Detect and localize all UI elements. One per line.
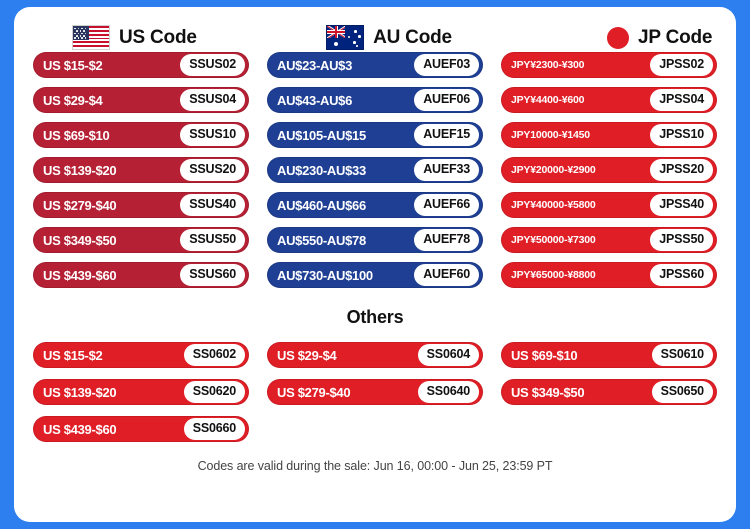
coupon-row[interactable]: US $139-$20SS0620 xyxy=(33,379,249,405)
header-au: AU Code xyxy=(269,25,540,50)
coupon-label: AU$105-AU$15 xyxy=(277,128,366,143)
coupon-row[interactable]: AU$460-AU$66AUEF66 xyxy=(267,192,483,218)
coupon-label: US $139-$20 xyxy=(43,385,116,400)
coupon-row[interactable]: US $349-$50SS0650 xyxy=(501,379,717,405)
others-cell: US $439-$60SS0660 xyxy=(24,416,258,453)
header-jp: JP Code xyxy=(539,25,736,50)
coupon-row[interactable]: US $69-$10SSUS10 xyxy=(33,122,249,148)
code-columns: US $15-$2SSUS02 US $29-$4SSUS04 US $69-$… xyxy=(14,52,736,297)
coupon-code[interactable]: JPSS20 xyxy=(650,159,713,181)
others-heading: Others xyxy=(14,307,736,328)
coupon-code[interactable]: JPSS04 xyxy=(650,89,713,111)
coupon-label: AU$43-AU$6 xyxy=(277,93,352,108)
coupon-row[interactable]: US $279-$40SSUS40 xyxy=(33,192,249,218)
coupon-row[interactable]: JPY10000-¥1450JPSS10 xyxy=(501,122,717,148)
coupon-row[interactable]: US $69-$10SS0610 xyxy=(501,342,717,368)
coupon-label: US $349-$50 xyxy=(511,385,584,400)
coupon-label: AU$230-AU$33 xyxy=(277,163,366,178)
coupon-label: US $279-$40 xyxy=(43,198,116,213)
coupon-row[interactable]: JPY¥65000-¥8800JPSS60 xyxy=(501,262,717,288)
header-title: JP Code xyxy=(638,27,712,49)
coupon-code[interactable]: SSUS10 xyxy=(180,124,245,146)
coupon-label: AU$730-AU$100 xyxy=(277,268,373,283)
coupon-row[interactable]: AU$23-AU$3AUEF03 xyxy=(267,52,483,78)
coupon-code[interactable]: SS0640 xyxy=(418,381,479,403)
coupon-label: US $69-$10 xyxy=(511,348,577,363)
coupon-code[interactable]: JPSS40 xyxy=(650,194,713,216)
coupon-label: US $439-$60 xyxy=(43,422,116,437)
coupon-code[interactable]: SS0602 xyxy=(184,344,245,366)
coupon-label: JPY¥50000-¥7300 xyxy=(511,234,596,246)
coupon-row[interactable]: US $439-$60SS0660 xyxy=(33,416,249,442)
coupon-label: US $139-$20 xyxy=(43,163,116,178)
coupon-row[interactable]: US $279-$40SS0640 xyxy=(267,379,483,405)
others-cell: US $15-$2SS0602 xyxy=(24,342,258,379)
coupon-code[interactable]: JPSS02 xyxy=(650,54,713,76)
coupon-row[interactable]: AU$43-AU$6AUEF06 xyxy=(267,87,483,113)
coupon-code[interactable]: AUEF33 xyxy=(414,159,479,181)
others-cell: US $349-$50SS0650 xyxy=(492,379,726,416)
coupon-code[interactable]: AUEF06 xyxy=(414,89,479,111)
coupon-code[interactable]: SSUS60 xyxy=(180,264,245,286)
coupon-label: US $279-$40 xyxy=(277,385,350,400)
others-cell: US $279-$40SS0640 xyxy=(258,379,492,416)
coupon-label: AU$23-AU$3 xyxy=(277,58,352,73)
coupon-code[interactable]: SSUS50 xyxy=(180,229,245,251)
coupon-label: JPY¥40000-¥5800 xyxy=(511,199,596,211)
coupon-label: JPY¥4400-¥600 xyxy=(511,94,584,106)
column-au: AU$23-AU$3AUEF03 AU$43-AU$6AUEF06 AU$105… xyxy=(258,52,492,297)
coupon-label: US $349-$50 xyxy=(43,233,116,248)
coupon-label: JPY¥2300-¥300 xyxy=(511,59,584,71)
coupon-label: AU$460-AU$66 xyxy=(277,198,366,213)
coupon-row[interactable]: JPY¥40000-¥5800JPSS40 xyxy=(501,192,717,218)
others-cell: US $29-$4SS0604 xyxy=(258,342,492,379)
au-flag-icon xyxy=(326,25,364,50)
coupon-code[interactable]: SS0650 xyxy=(652,381,713,403)
coupon-row[interactable]: US $15-$2SSUS02 xyxy=(33,52,249,78)
header-title: US Code xyxy=(119,27,197,49)
header-us: US Code xyxy=(14,25,269,50)
header-title: AU Code xyxy=(373,27,452,49)
coupon-label: US $439-$60 xyxy=(43,268,116,283)
coupon-code[interactable]: AUEF15 xyxy=(414,124,479,146)
coupon-code[interactable]: SSUS02 xyxy=(180,54,245,76)
coupon-row[interactable]: US $139-$20SSUS20 xyxy=(33,157,249,183)
coupon-row[interactable]: JPY¥50000-¥7300JPSS50 xyxy=(501,227,717,253)
others-grid: US $15-$2SS0602 US $29-$4SS0604 US $69-$… xyxy=(14,342,736,453)
promo-panel: US Code AU Code xyxy=(14,7,736,522)
others-cell: US $139-$20SS0620 xyxy=(24,379,258,416)
column-jp: JPY¥2300-¥300JPSS02 JPY¥4400-¥600JPSS04 … xyxy=(492,52,726,297)
coupon-row[interactable]: US $439-$60SSUS60 xyxy=(33,262,249,288)
coupon-code[interactable]: SSUS20 xyxy=(180,159,245,181)
column-headers: US Code AU Code xyxy=(14,7,736,52)
coupon-label: JPY10000-¥1450 xyxy=(511,129,590,141)
coupon-label: JPY¥65000-¥8800 xyxy=(511,269,596,281)
coupon-code[interactable]: SS0660 xyxy=(184,418,245,440)
coupon-row[interactable]: US $15-$2SS0602 xyxy=(33,342,249,368)
coupon-row[interactable]: AU$105-AU$15AUEF15 xyxy=(267,122,483,148)
coupon-row[interactable]: US $349-$50SSUS50 xyxy=(33,227,249,253)
coupon-row[interactable]: AU$230-AU$33AUEF33 xyxy=(267,157,483,183)
coupon-label: US $29-$4 xyxy=(43,93,102,108)
column-us: US $15-$2SSUS02 US $29-$4SSUS04 US $69-$… xyxy=(24,52,258,297)
coupon-label: US $29-$4 xyxy=(277,348,336,363)
coupon-row[interactable]: JPY¥4400-¥600JPSS04 xyxy=(501,87,717,113)
coupon-code[interactable]: JPSS60 xyxy=(650,264,713,286)
jp-flag-icon xyxy=(607,27,629,49)
coupon-code[interactable]: JPSS50 xyxy=(650,229,713,251)
coupon-row[interactable]: AU$730-AU$100AUEF60 xyxy=(267,262,483,288)
coupon-code[interactable]: SS0604 xyxy=(418,344,479,366)
coupon-label: US $15-$2 xyxy=(43,348,102,363)
coupon-label: AU$550-AU$78 xyxy=(277,233,366,248)
others-cell: US $69-$10SS0610 xyxy=(492,342,726,379)
validity-note: Codes are valid during the sale: Jun 16,… xyxy=(14,459,736,473)
coupon-label: US $15-$2 xyxy=(43,58,102,73)
coupon-row[interactable]: US $29-$4SS0604 xyxy=(267,342,483,368)
coupon-code[interactable]: AUEF03 xyxy=(414,54,479,76)
coupon-code[interactable]: AUEF66 xyxy=(414,194,479,216)
coupon-code[interactable]: AUEF60 xyxy=(414,264,479,286)
coupon-label: US $69-$10 xyxy=(43,128,109,143)
us-flag-icon xyxy=(72,25,110,50)
coupon-row[interactable]: US $29-$4SSUS04 xyxy=(33,87,249,113)
coupon-row[interactable]: JPY¥2300-¥300JPSS02 xyxy=(501,52,717,78)
coupon-row[interactable]: AU$550-AU$78AUEF78 xyxy=(267,227,483,253)
coupon-code[interactable]: AUEF78 xyxy=(414,229,479,251)
coupon-code[interactable]: SSUS40 xyxy=(180,194,245,216)
coupon-code[interactable]: SS0610 xyxy=(652,344,713,366)
coupon-row[interactable]: JPY¥20000-¥2900JPSS20 xyxy=(501,157,717,183)
coupon-code[interactable]: SS0620 xyxy=(184,381,245,403)
promo-frame: US Code AU Code xyxy=(0,0,750,529)
coupon-label: JPY¥20000-¥2900 xyxy=(511,164,596,176)
coupon-code[interactable]: SSUS04 xyxy=(180,89,245,111)
coupon-code[interactable]: JPSS10 xyxy=(650,124,713,146)
